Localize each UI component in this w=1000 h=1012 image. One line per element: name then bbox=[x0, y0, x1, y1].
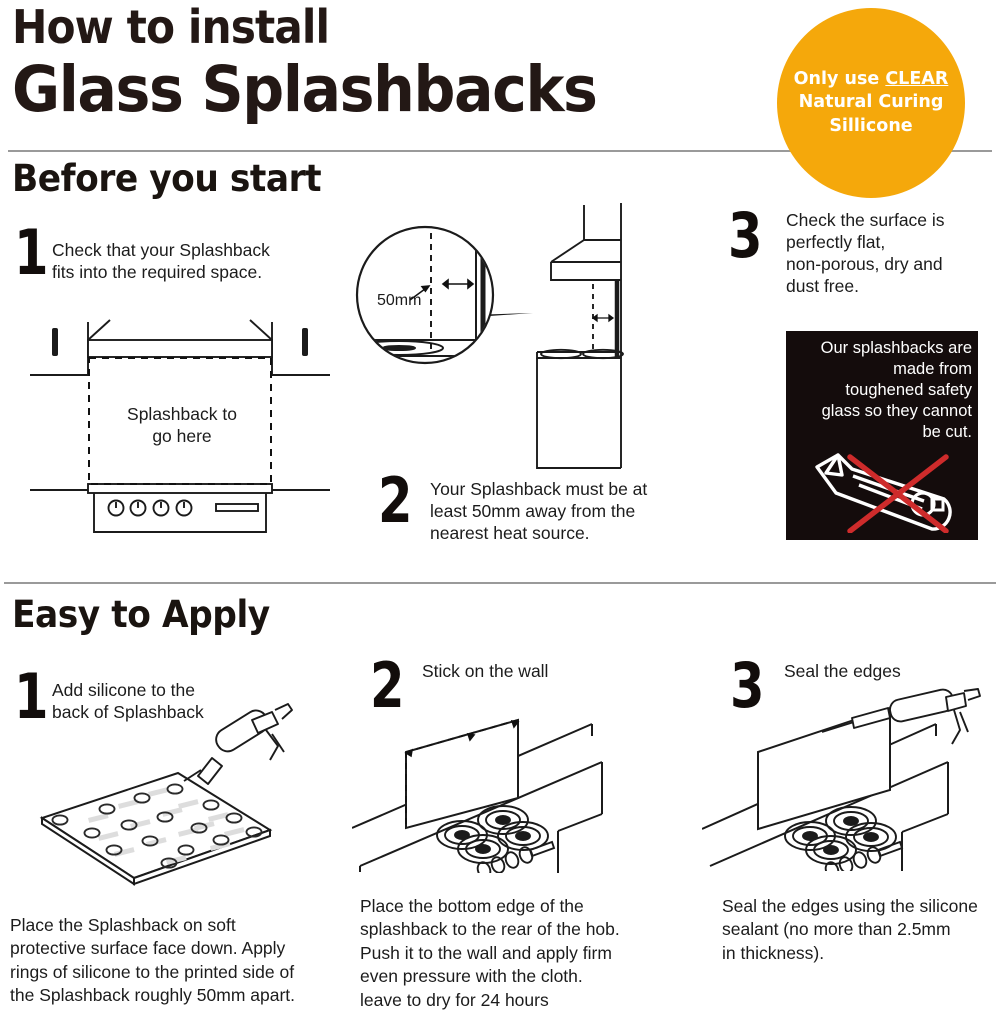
step-text-s1-2-line2: least 50mm away from the bbox=[430, 500, 690, 522]
caption-s2-1-line2: protective surface face down. Apply bbox=[10, 937, 350, 960]
caption-s2-1-line1: Place the Splashback on soft bbox=[10, 914, 350, 937]
diagram-label-line2: go here bbox=[102, 425, 262, 447]
caption-s2-3-line2: sealant (no more than 2.5mm bbox=[722, 918, 1000, 941]
callout-label-50mm: 50mm bbox=[377, 291, 421, 311]
warning-line-2: made from bbox=[792, 359, 972, 380]
clear-silicone-badge: Only use CLEAR Natural Curing Sillicone bbox=[777, 8, 965, 198]
step-text-s1-1: Check that your Splashback fits into the… bbox=[52, 239, 322, 283]
warning-line-5: be cut. bbox=[792, 422, 972, 443]
badge-line-3: Sillicone bbox=[829, 115, 912, 138]
step-text-s1-3-line3: non-porous, dry and bbox=[786, 253, 996, 275]
step-number-s1-1: 1 bbox=[14, 222, 49, 284]
page-title-line1: How to install bbox=[12, 4, 329, 50]
step-caption-s2-2: Place the bottom edge of the splashback … bbox=[360, 895, 690, 1012]
page-title-line2: Glass Splashbacks bbox=[12, 58, 597, 121]
step-caption-s2-3: Seal the edges using the silicone sealan… bbox=[722, 895, 1000, 965]
section-heading-before-you-start: Before you start bbox=[12, 160, 321, 197]
diagram-label-line1: Splashback to bbox=[102, 403, 262, 425]
badge-line1-prefix: Only use bbox=[794, 69, 886, 89]
step-title-s2-1-line1: Add silicone to the bbox=[52, 679, 302, 701]
illustration-stick-on-wall bbox=[352, 688, 652, 873]
step-text-s1-3-line4: dust free. bbox=[786, 275, 996, 297]
illustration-heat-source-clearance bbox=[355, 200, 685, 475]
warning-line-3: toughened safety bbox=[792, 380, 972, 401]
section-heading-easy-to-apply: Easy to Apply bbox=[12, 596, 270, 633]
caption-s2-2-line1: Place the bottom edge of the bbox=[360, 895, 690, 918]
warning-box-cannot-be-cut: Our splashbacks are made from toughened … bbox=[786, 331, 978, 540]
step-title-s2-3-line1: Seal the edges bbox=[784, 660, 1000, 682]
step-text-s1-3-line2: perfectly flat, bbox=[786, 231, 996, 253]
step-text-s1-2-line1: Your Splashback must be at bbox=[430, 478, 690, 500]
caption-s2-2-line4: even pressure with the cloth. bbox=[360, 965, 690, 988]
step-title-s2-2-line1: Stick on the wall bbox=[422, 660, 672, 682]
badge-line-1: Only use CLEAR bbox=[794, 68, 949, 91]
illustration-apply-silicone-rings bbox=[26, 700, 326, 890]
instruction-sheet: How to install Glass Splashbacks Only us… bbox=[0, 0, 1000, 1000]
step-text-s1-3-line1: Check the surface is bbox=[786, 209, 996, 231]
no-knife-icon bbox=[812, 449, 964, 533]
diagram-label-splashback-here: Splashback to go here bbox=[102, 403, 262, 447]
step-title-s2-3: Seal the edges bbox=[784, 660, 1000, 682]
step-text-s1-3: Check the surface is perfectly flat, non… bbox=[786, 209, 996, 297]
warning-line-4: glass so they cannot bbox=[792, 401, 972, 422]
step-text-s1-2: Your Splashback must be at least 50mm aw… bbox=[430, 478, 690, 544]
badge-clear-emphasis: CLEAR bbox=[885, 69, 948, 89]
caption-s2-3-line1: Seal the edges using the silicone bbox=[722, 895, 1000, 918]
illustration-seal-the-edges bbox=[702, 686, 992, 871]
step-text-s1-1-line1: Check that your Splashback bbox=[52, 239, 322, 261]
caption-s2-1-line4: the Splashback roughly 50mm apart. bbox=[10, 984, 350, 1007]
caption-s2-2-line5: leave to dry for 24 hours bbox=[360, 989, 690, 1012]
step-number-s1-2: 2 bbox=[378, 470, 413, 532]
step-caption-s2-1: Place the Splashback on soft protective … bbox=[10, 914, 350, 1008]
warning-line-1: Our splashbacks are bbox=[792, 338, 972, 359]
step-text-s1-1-line2: fits into the required space. bbox=[52, 261, 322, 283]
caption-s2-1-line3: rings of silicone to the printed side of bbox=[10, 961, 350, 984]
divider-middle bbox=[4, 582, 996, 584]
caption-s2-3-line3: in thickness). bbox=[722, 942, 1000, 965]
badge-line-2: Natural Curing bbox=[799, 91, 944, 114]
caption-s2-2-line3: Push it to the wall and apply firm bbox=[360, 942, 690, 965]
warning-box-text: Our splashbacks are made from toughened … bbox=[792, 338, 972, 444]
step-title-s2-2: Stick on the wall bbox=[422, 660, 672, 682]
caption-s2-2-line2: splashback to the rear of the hob. bbox=[360, 918, 690, 941]
step-text-s1-2-line3: nearest heat source. bbox=[430, 522, 690, 544]
step-number-s1-3: 3 bbox=[728, 205, 763, 267]
